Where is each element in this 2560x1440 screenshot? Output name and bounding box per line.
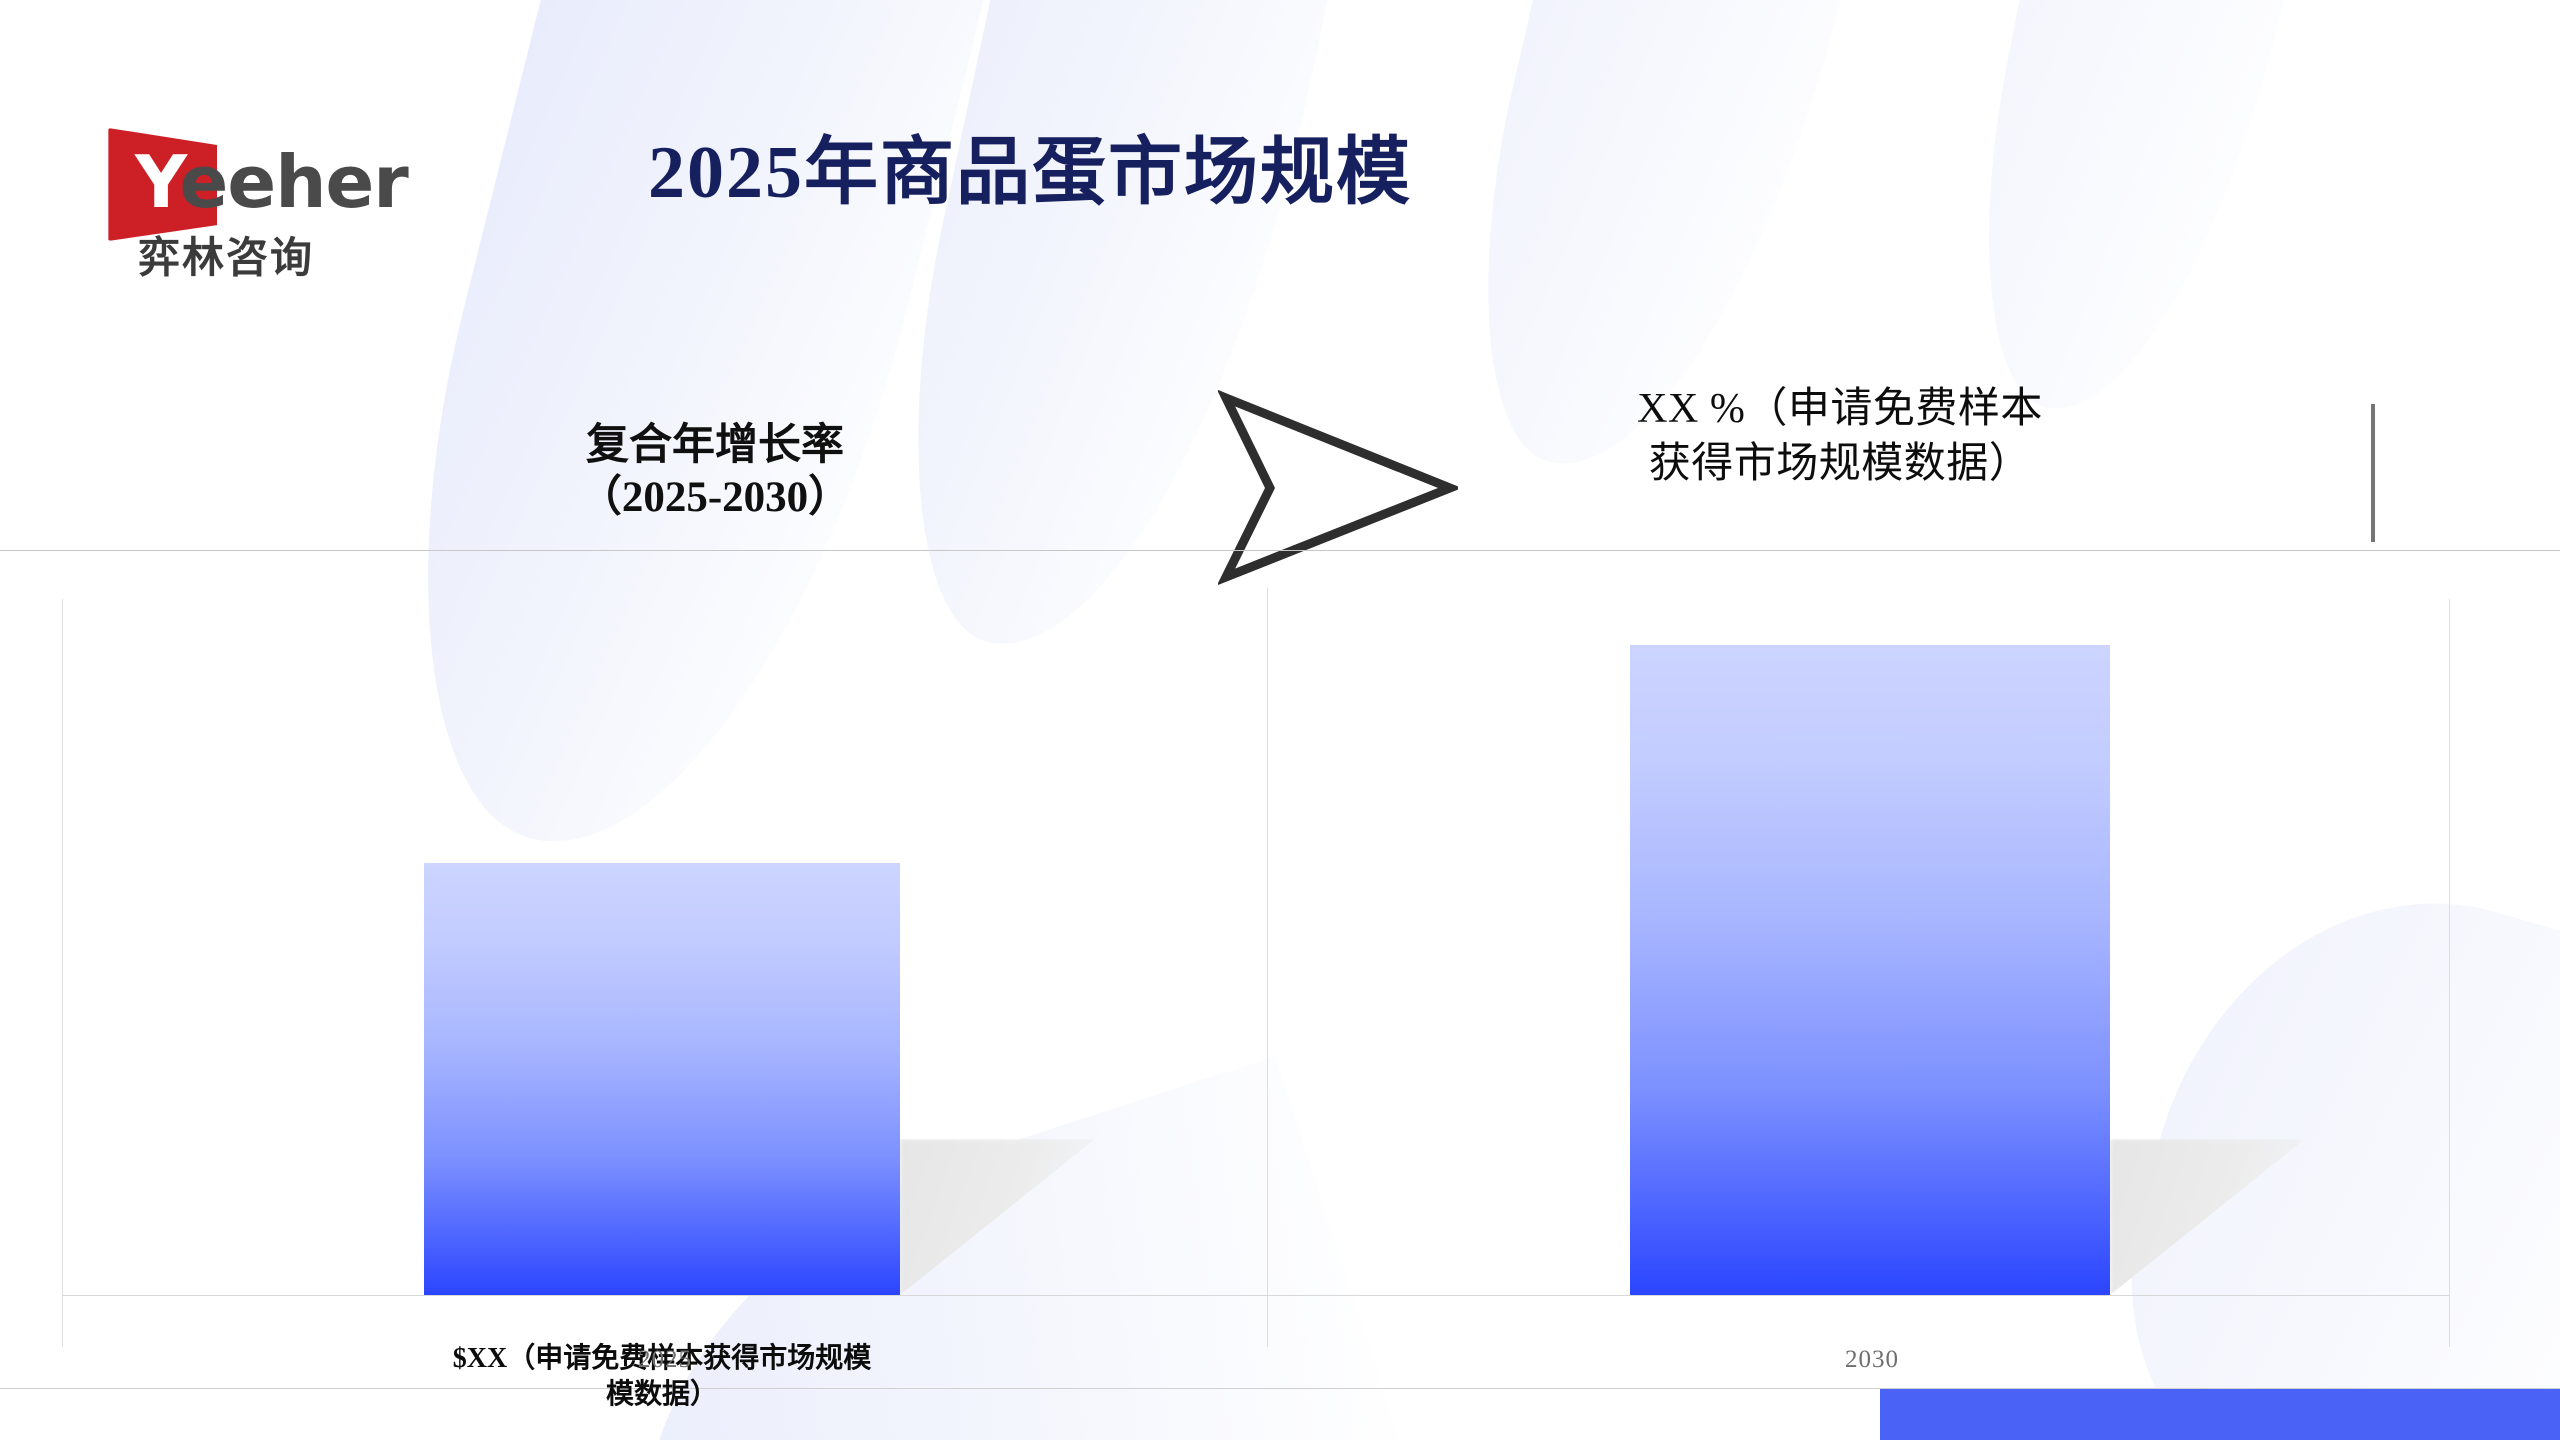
right-divider-tick (2371, 404, 2375, 542)
chart-panel-middle-border (1267, 588, 1268, 1347)
chart-panel-right-border (2449, 599, 2450, 1347)
footer-accent-bar (1880, 1389, 2560, 1440)
cagr-label: 复合年增长率 (500, 420, 930, 472)
cagr-value-line2: 获得市场规模数据） (1580, 437, 2100, 492)
logo-wordmark-cn: 弈林咨询 (138, 224, 314, 285)
axis-tick-2030: 2030 (1772, 1346, 1972, 1374)
chart-baseline (62, 1295, 2450, 1296)
bar-shadow-2030 (2110, 1139, 2305, 1295)
axis-tick-2025: 2025 (565, 1346, 765, 1374)
cagr-value-line1: XX %（申请免费样本 (1580, 382, 2100, 437)
bar-shadow-2025 (900, 1139, 1095, 1295)
logo-wordmark: Yeeher (135, 146, 408, 218)
bar-2025[interactable] (424, 863, 900, 1295)
bar-label-2025-line2: 模数据） (412, 1377, 912, 1413)
logo-wordmark-initial: Y (135, 140, 180, 224)
page-title: 2025年商品蛋市场规模 (648, 112, 1412, 219)
logo-wordmark-rest: eeher (180, 140, 408, 224)
background-swoosh-4 (1944, 0, 2356, 437)
slide-canvas: Yeeher 弈林咨询 2025年商品蛋市场规模 复合年增长率 （2025-20… (0, 0, 2560, 1440)
cagr-block: 复合年增长率 （2025-2030） (500, 420, 930, 525)
cagr-period: （2025-2030） (500, 472, 930, 524)
chart-panel-left-border (62, 599, 63, 1347)
bar-2030[interactable] (1630, 645, 2110, 1295)
cagr-value-callout: XX %（申请免费样本 获得市场规模数据） (1580, 382, 2100, 491)
bar-chart: $XX（申请免费样本获得市场规模 模数据） 2025 2030 (0, 551, 2560, 1388)
brand-logo: Yeeher 弈林咨询 (105, 122, 405, 307)
